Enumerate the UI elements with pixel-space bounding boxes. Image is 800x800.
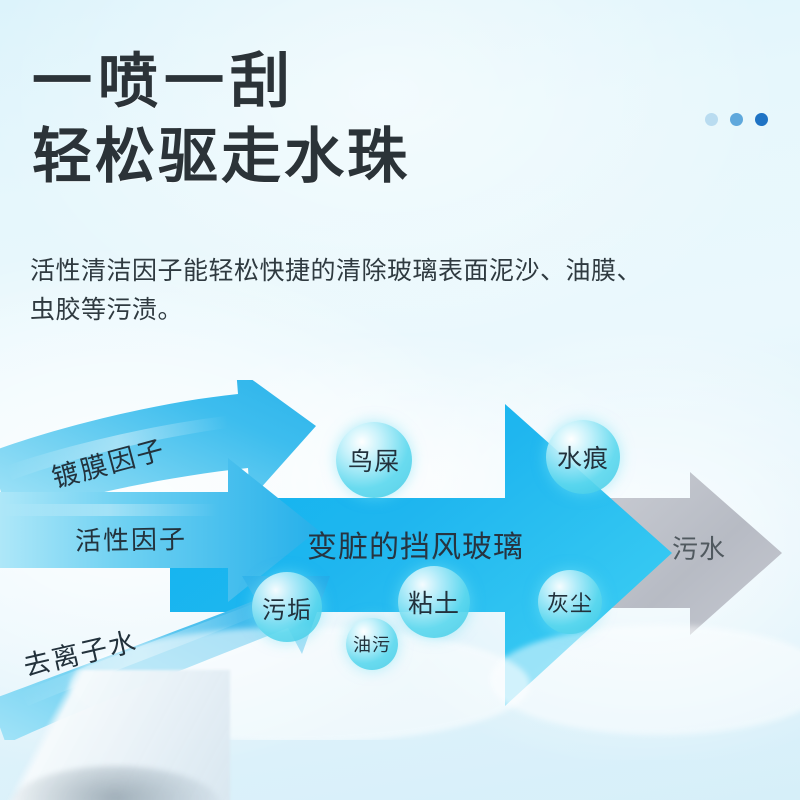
- dot-solid-icon: [755, 113, 768, 126]
- subheadline: 活性清洁因子能轻松快捷的清除玻璃表面泥沙、油膜、 虫胶等污渍。: [30, 252, 720, 330]
- headline-line-2: 轻松驱走水珠: [32, 125, 410, 190]
- bubble-clay: 粘土: [398, 566, 470, 638]
- bubble-water-marks: 水痕: [546, 420, 620, 494]
- dot-light-icon: [705, 113, 718, 126]
- headline-line-1: 一喷一刮: [32, 50, 410, 115]
- poster-canvas: 一喷一刮 轻松驱走水珠 活性清洁因子能轻松快捷的清除玻璃表面泥沙、油膜、 虫胶等…: [0, 0, 800, 800]
- subheadline-line-1: 活性清洁因子能轻松快捷的清除玻璃表面泥沙、油膜、: [30, 252, 720, 291]
- bubble-dust: 灰尘: [538, 570, 602, 634]
- bubble-bird-droppings: 鸟屎: [336, 422, 412, 498]
- dot-medium-icon: [730, 113, 743, 126]
- subheadline-line-2: 虫胶等污渍。: [30, 291, 720, 330]
- bubble-grime: 污垢: [252, 572, 322, 642]
- dots-decoration: [705, 113, 768, 126]
- bubble-oil-stain: 油污: [346, 618, 398, 670]
- headline: 一喷一刮 轻松驱走水珠: [32, 50, 410, 190]
